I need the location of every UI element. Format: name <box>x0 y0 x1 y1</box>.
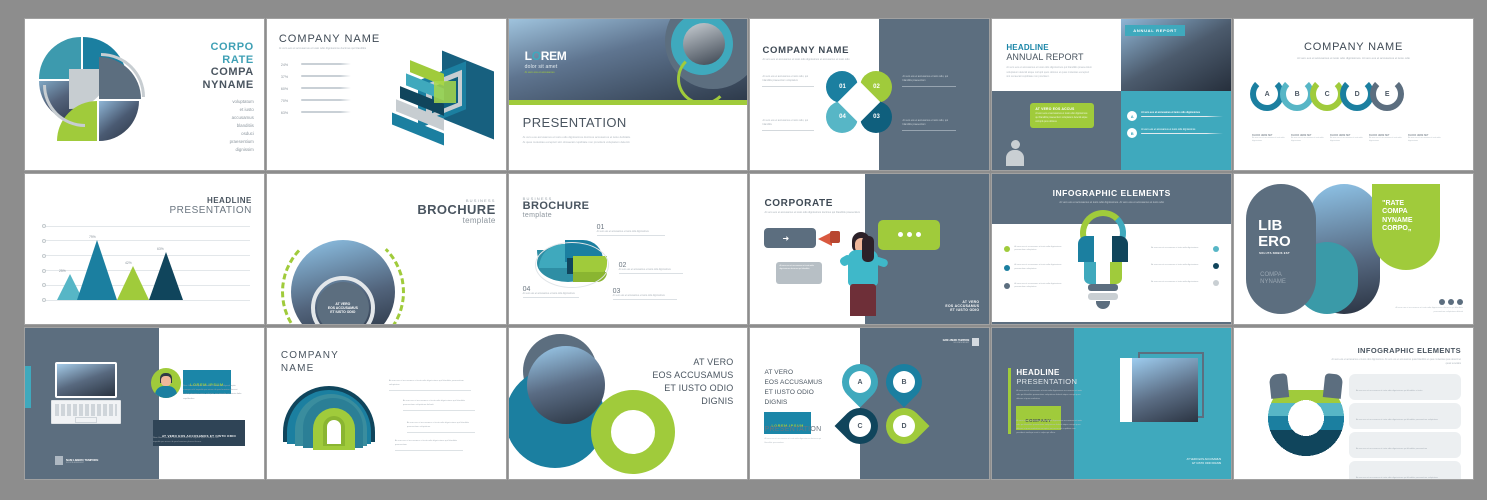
right-items: At vero eos et accusamus et iusto odio d… <box>1151 246 1219 286</box>
lightbulb-graphic <box>1076 210 1130 310</box>
stat-row: 37% <box>281 75 373 79</box>
quote-shape: "RATE COMPA NYNAME CORPO„ <box>1372 184 1440 270</box>
list-item: At vero eos et accusamus et iusto odio d… <box>1004 264 1068 272</box>
stat-row: 70% <box>281 99 373 103</box>
social-icon[interactable] <box>1457 299 1463 305</box>
list-item: At vero eos et accusamus et iusto odio d… <box>1004 246 1068 254</box>
chart-triangle-2 <box>77 240 117 300</box>
caption-block: BLOCK HERE SETAt vero eos et accusamus e… <box>1408 135 1442 143</box>
megaphone-icon <box>818 230 844 244</box>
process-step-c: C <box>1310 77 1344 111</box>
photo-panel: ANNUAL REPORT <box>1121 19 1231 91</box>
slide-16-title: AT VERO EOS ACCUSAMUS ET IUSTO ODIO DIGN… <box>764 368 822 407</box>
slide-thumbnail-13[interactable]: NAM LIBERO TEMPORE SOLUTA NOBIS EST LORE… <box>25 328 264 479</box>
social-icon[interactable] <box>1439 299 1445 305</box>
abcd-pins: A B C D <box>842 364 938 456</box>
person-icon <box>1006 140 1024 166</box>
pie-chart-3d <box>537 236 617 290</box>
stat-row: 60% <box>281 87 373 91</box>
horseshoe-items: At vero eos et accusamus et iusto odio d… <box>1349 374 1461 479</box>
slide-8-header: BUSINESS BROCHURE template <box>417 198 495 226</box>
left-items: At vero eos et accusamus et iusto odio d… <box>1004 246 1068 291</box>
logo-text: LOREM <box>525 49 567 63</box>
layered-cube-graphic <box>388 57 498 149</box>
slide-thumbnail-2[interactable]: COMPANY NAME At vero eos et accusamus et… <box>267 19 506 170</box>
list-item: At vero eos et accusamus et iusto odio d… <box>1349 374 1461 400</box>
page-subtitle: At vero eos et accusamus et iusto odio d… <box>279 47 380 50</box>
pie-callout-02: 02 At vero eos et accusamus et iusto odi… <box>619 262 683 274</box>
caption-block: BLOCK HERE SETAt vero eos et accusamus e… <box>1330 135 1364 143</box>
list-item: At vero eos et accusamus et iusto odio d… <box>1349 403 1461 429</box>
slide-thumbnail-18[interactable]: INFOGRAPHIC ELEMENTS At vero eos et accu… <box>1234 328 1473 479</box>
pin-d: D <box>879 401 930 452</box>
process-step-d: D <box>1340 77 1374 111</box>
page-subtitle: At vero eos et accusamus et iusto odio d… <box>762 58 849 61</box>
process-step-a: A <box>1250 77 1284 111</box>
page-title: CORPORATE <box>764 198 860 209</box>
slide-14-header: COMPANY NAME <box>281 350 339 375</box>
chart-label-2: 79% <box>89 235 96 239</box>
chart-label-3: 42% <box>125 261 132 265</box>
social-icons <box>1385 299 1463 305</box>
pin-a: A <box>835 357 886 408</box>
slide-thumbnail-11[interactable]: INFOGRAPHIC ELEMENTS At vero eos et accu… <box>992 174 1231 325</box>
list-letter-badge: A <box>1127 111 1137 121</box>
share-bubble: ➜ <box>764 228 816 248</box>
photo-circle <box>527 346 605 424</box>
slide-thumbnail-9[interactable]: BUSINESS BROCHURE template 01 At vero eo… <box>509 174 748 325</box>
page-subtitle: At vero eos et accusamus et iusto odio d… <box>1331 358 1461 366</box>
slide-16-subtitle: PRESENTATION <box>764 426 821 433</box>
page-body: At vero eos et accusamus et iusto odio d… <box>1006 66 1092 80</box>
slide-grid: CORPO RATE COMPA NYNAME voluptatum et iu… <box>0 0 1487 500</box>
arc-callout-1: At vero eos et accusamus et iusto odio d… <box>389 380 471 390</box>
headline: HEADLINE <box>1006 43 1092 52</box>
slide-thumbnail-7[interactable]: HEADLINE PRESENTATION 25% 79% <box>25 174 264 325</box>
page-title: INFOGRAPHIC ELEMENTS <box>1331 346 1461 355</box>
slide-1-body: voluptatum et iusto accusamus blanditiis… <box>203 98 254 155</box>
slide-thumbnail-1[interactable]: CORPO RATE COMPA NYNAME voluptatum et iu… <box>25 19 264 170</box>
bullet-dot <box>1004 246 1010 252</box>
accent-bar <box>1008 368 1011 434</box>
libero-shape: LIB ERO SOLUTA NOBIS EST COMPA NYNAME <box>1246 184 1316 314</box>
lettered-list: A At vero eos et accusamus et iusto odio… <box>1127 111 1223 138</box>
slide-thumbnail-16[interactable]: AT VERO EOS ACCUSAMUS ET IUSTO ODIO DIGN… <box>750 328 989 479</box>
quote-text: "RATE COMPA NYNAME CORPO„ <box>1382 200 1412 234</box>
slide-3-title-block: PRESENTATION At vero eos accusamus et iu… <box>523 115 633 145</box>
arc-callout-4: At vero eos et accusamus et iusto odio d… <box>395 440 463 450</box>
slide-thumbnail-4[interactable]: COMPANY NAME At vero eos et accusamus et… <box>750 19 989 170</box>
slide-17-header: HEADLINE PRESENTATION At vero eos et acc… <box>1016 368 1082 402</box>
photo-badge: ANNUAL REPORT <box>1125 25 1185 36</box>
page-title: COMPANY NAME <box>762 45 849 56</box>
callout-left-bottom: At vero eos et accusamus et iusto odio, … <box>762 119 814 131</box>
list-item: At vero eos et accusamus et iusto odio d… <box>1151 246 1219 252</box>
slide-9-header: BUSINESS BROCHURE template <box>523 196 590 220</box>
chart-triangle-3 <box>117 266 149 300</box>
page-subtitle: template <box>417 216 495 225</box>
laptop-mockup <box>51 362 121 424</box>
page-body: At vero eos accusamus et iusto odio dign… <box>523 135 633 145</box>
page-title: BROCHURE <box>523 201 590 213</box>
pie-callout-03: 03 At vero eos et accusamus et iusto odi… <box>613 288 677 300</box>
slide-16-body: At vero eos et accusamus et iusto odio d… <box>764 438 822 445</box>
bullet-dot <box>1213 280 1219 286</box>
slide-thumbnail-8[interactable]: BUSINESS BROCHURE template AT VERO EOS A… <box>267 174 506 325</box>
logo-block: NAM LIBERO TEMPORE SOLUTA NOBIS EST <box>943 338 980 346</box>
callout-right-top: At vero eos et accusamus et iusto odio, … <box>902 75 956 87</box>
chart-label-4: 63% <box>157 247 164 251</box>
company-name-block: COMPA NYNAME <box>1260 272 1286 287</box>
slide-2-header: COMPANY NAME At vero eos et accusamus et… <box>279 33 380 50</box>
list-letter-badge: B <box>1127 128 1137 138</box>
subheadline: ANNUAL REPORT <box>1006 52 1092 62</box>
pin-c: C <box>835 401 886 452</box>
slide-4-header: COMPANY NAME At vero eos et accusamus et… <box>762 45 849 61</box>
list-item: At vero eos et accusamus et iusto odio d… <box>1349 432 1461 458</box>
list-item: At vero eos et accusamus et iusto odio d… <box>1349 461 1461 479</box>
pin-b: B <box>879 357 930 408</box>
arc-callout-2: At vero eos et accusamus et iusto odio d… <box>403 400 475 410</box>
slide-thumbnail-15[interactable]: AT VERO EOS ACCUSAMUS ET IUSTO ODIO DIGN… <box>509 328 748 479</box>
pinwheel-graphic <box>39 37 139 142</box>
slide-15-title: AT VERO EOS ACCUSAMUS ET IUSTO ODIO DIGN… <box>652 356 733 408</box>
page-title: PRESENTATION <box>523 115 633 130</box>
bullet-dot <box>1213 246 1219 252</box>
photo-banner: LOREM dolor sit amet At vero eos et accu… <box>509 19 748 105</box>
page-title: COMPANY NAME <box>279 33 380 45</box>
arc-callout-3: At vero eos et accusamus et iusto odio d… <box>407 422 475 432</box>
bubble-body: At vero eos et accusamus et iusto odio d… <box>1035 112 1089 124</box>
caption-block: BLOCK HERE SETAt vero eos et accusamus e… <box>1291 135 1325 143</box>
callout-right-bottom: At vero eos et accusamus et iusto odio, … <box>902 119 956 131</box>
slide-thumbnail-14[interactable]: COMPANY NAME At vero eos et accusamus et… <box>267 328 506 479</box>
bullet-dot <box>1213 263 1219 269</box>
chart-label-1: 25% <box>59 269 66 273</box>
subheadline: PRESENTATION <box>1016 377 1082 386</box>
slide-17-footer: AT VERO EOS ACCUSAMUS ET IUSTO ODIO DIGN… <box>1187 458 1222 467</box>
circle-photo-graphic: AT VERO EOS ACCUSAMUS ET IUSTO ODIO <box>281 230 405 325</box>
slide-thumbnail-10[interactable]: CORPORATE At vero eos et accusamus et iu… <box>750 174 989 325</box>
list-item: At vero eos et accusamus et iusto odio d… <box>1151 280 1219 286</box>
stat-list: 24% 37% 60% 70% 63% <box>281 63 373 115</box>
headline: HEADLINE <box>1016 368 1082 377</box>
avatar <box>151 368 181 398</box>
body-text: At vero eos et accusamus et iusto odio d… <box>1016 390 1082 402</box>
pie-callout-04: 04 At vero eos et accusamus et iusto odi… <box>523 286 579 298</box>
slide-11-header: INFOGRAPHIC ELEMENTS At vero eos et accu… <box>992 188 1231 204</box>
list-item: At vero eos et accusamus et iusto odio d… <box>1004 283 1068 291</box>
page-title: COMPANY NAME <box>1234 41 1473 53</box>
page-subtitle: template <box>523 212 590 219</box>
title-line-3: COMPA <box>203 66 254 79</box>
slide-7-header: HEADLINE PRESENTATION <box>170 196 252 216</box>
caption-block: BLOCK HERE SETAt vero eos et accusamus e… <box>1369 135 1403 143</box>
slide-1-title-block: CORPO RATE COMPA NYNAME voluptatum et iu… <box>203 41 254 155</box>
slide-10-header: CORPORATE At vero eos et accusamus et iu… <box>764 198 860 214</box>
layered-arcs-graphic <box>283 386 393 458</box>
horseshoe-graphic <box>1268 374 1344 456</box>
title-line-1: CORPO <box>203 41 254 54</box>
slide-thumbnail-12[interactable]: LIB ERO SOLUTA NOBIS EST COMPA NYNAME "R… <box>1234 174 1473 325</box>
process-captions: BLOCK HERE SETAt vero eos et accusamus e… <box>1252 135 1442 143</box>
caption-block: BLOCK HERE SETAt vero eos et accusamus e… <box>1252 135 1286 143</box>
callout-left-top: At vero eos et accusamus et iusto odio, … <box>762 75 814 87</box>
list-item: B At vero eos et accusamus et iusto odio… <box>1127 128 1223 138</box>
process-step-e: E <box>1370 77 1404 111</box>
headline: HEADLINE <box>170 196 252 205</box>
body-text: Nam libero tempore cumsoluta nobis est e… <box>183 384 243 400</box>
chart-triangle-4 <box>149 252 183 300</box>
page-title: INFOGRAPHIC ELEMENTS <box>992 188 1231 198</box>
slide-thumbnail-5[interactable]: ANNUAL REPORT HEADLINE ANNUAL REPORT At … <box>992 19 1231 170</box>
pie-callout-01: 01 At vero eos et accusamus et iusto odi… <box>597 224 665 236</box>
subheadline: PRESENTATION <box>170 205 252 216</box>
list-item: At vero eos et accusamus et iusto odio d… <box>1151 263 1219 269</box>
slide-12-footer: At vero eos et accusamus et iusto odio d… <box>1385 299 1463 314</box>
page-title: BROCHURE <box>417 203 495 217</box>
speech-bubble: AT VERO EOS ACCUS At vero eos et accusam… <box>1030 103 1094 128</box>
quote-bubble: At vero eos et accusamus et iusto odio d… <box>776 262 822 284</box>
list-item: A At vero eos et accusamus et iusto odio… <box>1127 111 1223 121</box>
slide-thumbnail-6[interactable]: COMPANY NAME At vero eos et accusamus et… <box>1234 19 1473 170</box>
accent-bar <box>25 366 31 408</box>
body-text-2: At vero eos et accusamus et iusto odio d… <box>1016 420 1084 435</box>
page-subtitle: At vero eos et accusamus et iusto odio d… <box>1234 56 1473 60</box>
page-subtitle: At vero eos et accusamus et iusto odio d… <box>764 211 860 214</box>
bullet-dot <box>1004 283 1010 289</box>
bullet-dot <box>1004 265 1010 271</box>
process-row: A B C D E <box>1250 77 1404 111</box>
slide-6-header: COMPANY NAME At vero eos et accusamus et… <box>1234 41 1473 60</box>
stat-row: 24% <box>281 63 373 67</box>
bubble-title: AT VERO EOS ACCUS <box>1035 107 1089 111</box>
dots-bubble <box>878 220 940 250</box>
title-line-2: RATE <box>203 54 254 67</box>
logo-tagline: At vero eos et accusamus <box>525 71 567 74</box>
photo-image <box>1132 358 1198 422</box>
social-icon[interactable] <box>1448 299 1454 305</box>
petal-infographic: 01 02 03 04 <box>824 71 898 133</box>
share-icon: ➜ <box>782 234 789 243</box>
process-step-b: B <box>1280 77 1314 111</box>
slide-thumbnail-17[interactable]: HEADLINE PRESENTATION At vero eos et acc… <box>992 328 1231 479</box>
logo-block: LOREM dolor sit amet At vero eos et accu… <box>525 49 567 74</box>
slide-thumbnail-3[interactable]: LOREM dolor sit amet At vero eos et accu… <box>509 19 748 170</box>
title-line-4: NYNAME <box>203 79 254 92</box>
body-text-2: Nam libero tempore cumsoluta nobis est e… <box>153 436 223 444</box>
triangle-chart: 25% 79% 42% 63% <box>45 226 250 300</box>
slide-18-header: INFOGRAPHIC ELEMENTS At vero eos et accu… <box>1331 346 1461 366</box>
slide-5-header: HEADLINE ANNUAL REPORT At vero eos et ac… <box>1006 43 1092 80</box>
logo-block: NAM LIBERO TEMPORE SOLUTA NOBIS EST <box>55 456 98 465</box>
logo-subtitle: dolor sit amet <box>525 64 567 70</box>
stat-row: 63% <box>281 111 373 115</box>
page-subtitle: At vero eos et accusamus et iusto odio d… <box>992 201 1231 204</box>
slide-10-footer: AT VERO EOS ACCUSAMUS ET IUSTO ODIO <box>945 300 979 312</box>
page-title: COMPANY NAME <box>281 350 339 375</box>
